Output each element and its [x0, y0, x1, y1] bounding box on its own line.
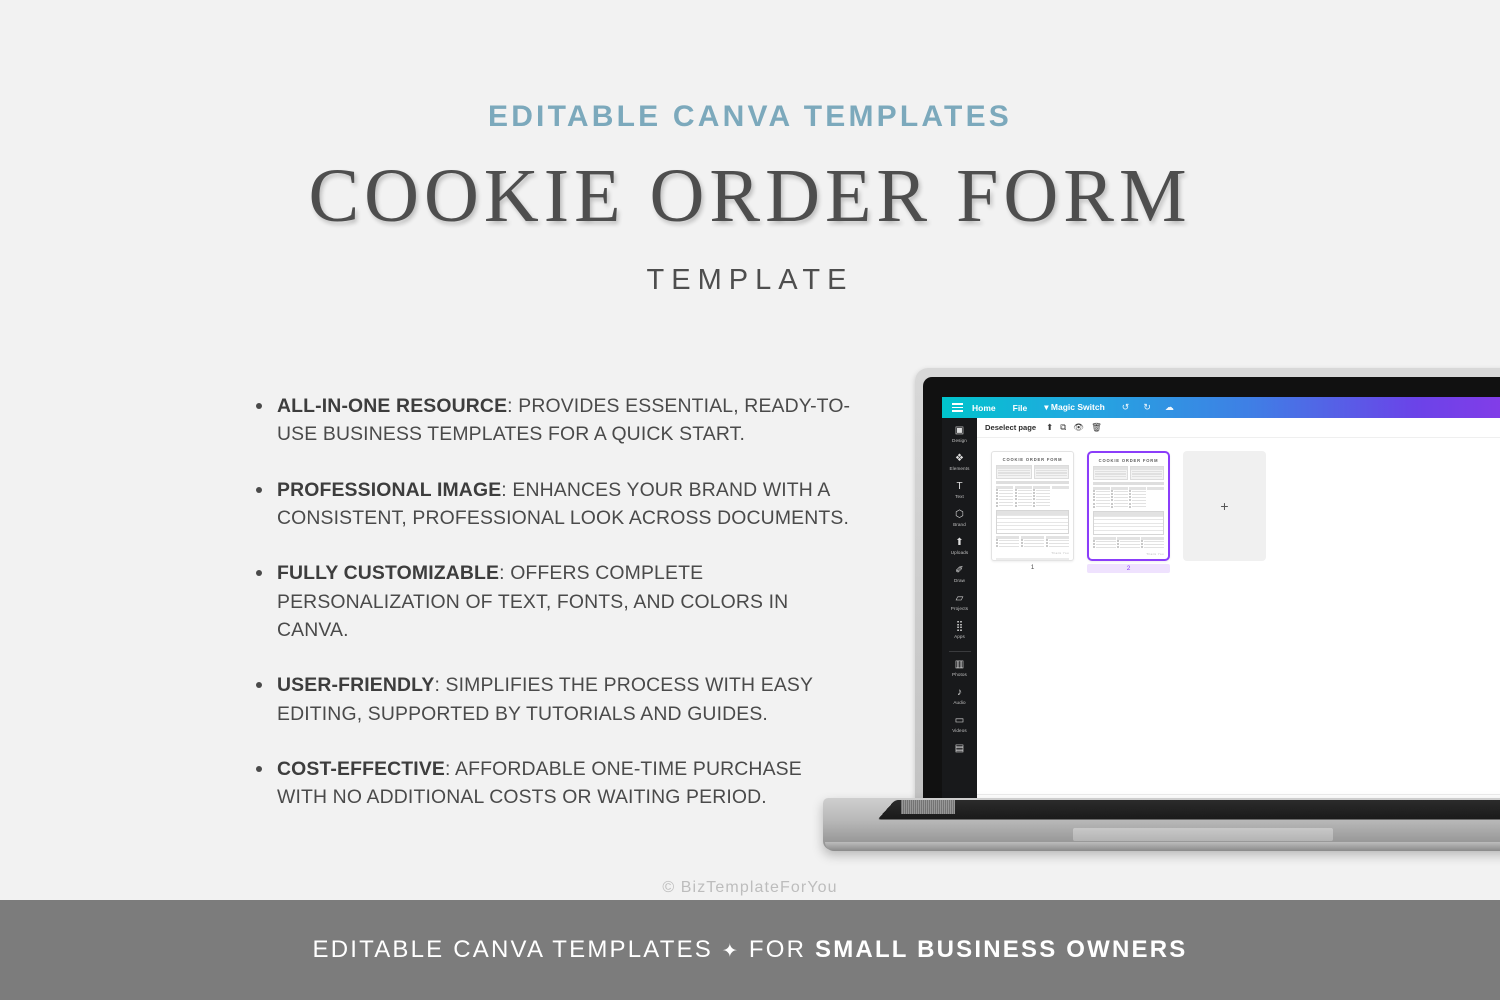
- add-page-card[interactable]: +: [1183, 451, 1266, 561]
- bullet-dot-icon: [256, 570, 262, 576]
- page-thumbnail-1[interactable]: COOKIE ORDER FORM: [991, 451, 1074, 571]
- footer-strong: SMALL BUSINESS OWNERS: [815, 936, 1187, 963]
- list-item: PROFESSIONAL IMAGE: ENHANCES YOUR BRAND …: [256, 476, 856, 533]
- sidebar-item-draw[interactable]: ✐ Draw: [942, 565, 977, 583]
- mini-info-box: [996, 465, 1032, 479]
- mini-signature: Thank You: [1093, 552, 1164, 556]
- sidebar-item-label: Brand: [942, 522, 977, 527]
- projects-icon: ▱: [942, 593, 977, 605]
- list-item: USER-FRIENDLY: SIMPLIFIES THE PROCESS WI…: [256, 671, 856, 728]
- draw-icon: ✐: [942, 565, 977, 577]
- sidebar-item-videos[interactable]: ▭ Videos: [942, 715, 977, 733]
- mini-bottom-band: [1093, 559, 1164, 561]
- list-item-text: ALL-IN-ONE RESOURCE: PROVIDES ESSENTIAL,…: [277, 392, 856, 449]
- sidebar-item-brand[interactable]: ⬡ Brand: [942, 509, 977, 527]
- bullet-dot-icon: [256, 766, 262, 772]
- page-toolbar: Deselect page ⬆ ⧉ 👁 🗑: [977, 418, 1500, 438]
- mini-form: COOKIE ORDER FORM: [992, 452, 1073, 561]
- list-item-lead: PROFESSIONAL IMAGE: [277, 479, 501, 501]
- sidebar-item-label: Elements: [942, 466, 977, 471]
- list-item-text: PROFESSIONAL IMAGE: ENHANCES YOUR BRAND …: [277, 476, 856, 533]
- sidebar-item-audio[interactable]: ♪ Audio: [942, 687, 977, 705]
- text-icon: T: [942, 481, 977, 493]
- mini-form: COOKIE ORDER FORM: [1089, 453, 1168, 561]
- mini-form-title: COOKIE ORDER FORM: [996, 457, 1069, 462]
- laptop-bezel: Home File ▾ Magic Switch ↺ ↻ ☁ ▣ D: [923, 377, 1500, 800]
- sidebar-item-text[interactable]: T Text: [942, 481, 977, 499]
- mini-info-box: [1093, 466, 1128, 480]
- sidebar-item-photos[interactable]: ▥ Photos: [942, 659, 977, 677]
- redo-icon[interactable]: ↻: [1143, 402, 1151, 413]
- sidebar-item-label: Projects: [942, 606, 977, 611]
- list-item: FULLY CUSTOMIZABLE: OFFERS COMPLETE PERS…: [256, 559, 856, 644]
- add-page-plus-icon[interactable]: +: [1183, 451, 1266, 561]
- list-item-lead: FULLY CUSTOMIZABLE: [277, 562, 499, 584]
- footer-bar: EDITABLE CANVA TEMPLATES ✦ FOR SMALL BUS…: [0, 900, 1500, 1000]
- sidebar-divider: [949, 651, 971, 652]
- feature-list: ALL-IN-ONE RESOURCE: PROVIDES ESSENTIAL,…: [256, 392, 856, 839]
- list-item-lead: ALL-IN-ONE RESOURCE: [277, 395, 507, 417]
- delete-page-icon[interactable]: 🗑: [1091, 422, 1102, 433]
- list-item-text: FULLY CUSTOMIZABLE: OFFERS COMPLETE PERS…: [277, 559, 856, 644]
- elements-icon: ❖: [942, 453, 977, 465]
- footer-lead: EDITABLE CANVA TEMPLATES: [313, 936, 713, 963]
- sidebar-item-label: Videos: [942, 728, 977, 733]
- canva-topbar: Home File ▾ Magic Switch ↺ ↻ ☁: [942, 397, 1500, 418]
- audio-icon: ♪: [942, 687, 977, 699]
- list-item-text: USER-FRIENDLY: SIMPLIFIES THE PROCESS WI…: [277, 671, 856, 728]
- bullet-dot-icon: [256, 487, 262, 493]
- design-icon: ▣: [942, 425, 977, 437]
- laptop-speaker-grille: [901, 800, 955, 814]
- list-item-text: COST-EFFECTIVE: AFFORDABLE ONE-TIME PURC…: [277, 755, 856, 812]
- more-icon: ▤: [942, 743, 977, 755]
- page-header: EDITABLE CANVA TEMPLATES COOKIE ORDER FO…: [0, 0, 1500, 297]
- canva-editor-screen: Home File ▾ Magic Switch ↺ ↻ ☁ ▣ D: [942, 397, 1500, 809]
- undo-icon[interactable]: ↺: [1122, 402, 1130, 413]
- diamond-icon: ✦: [722, 941, 740, 962]
- mini-footer-grid: [996, 536, 1069, 548]
- videos-icon: ▭: [942, 715, 977, 727]
- sidebar-item-design[interactable]: ▣ Design: [942, 425, 977, 443]
- canva-sidebar: ▣ Design ❖ Elements T Text ⬡: [942, 418, 977, 809]
- header-subtitle: TEMPLATE: [0, 264, 1500, 297]
- page-thumbnail-list: COOKIE ORDER FORM: [977, 438, 1500, 573]
- page-title: COOKIE ORDER FORM: [0, 158, 1500, 234]
- mini-signature: Thank You: [996, 551, 1069, 555]
- deselect-page-button[interactable]: Deselect page: [985, 423, 1036, 432]
- sidebar-item-elements[interactable]: ❖ Elements: [942, 453, 977, 471]
- page-number-label: 1: [991, 564, 1074, 571]
- mini-form-title: COOKIE ORDER FORM: [1093, 458, 1164, 463]
- footer-mid: FOR: [749, 936, 806, 963]
- mini-info-row: [996, 465, 1069, 479]
- sidebar-item-label: Photos: [942, 672, 977, 677]
- mini-info-box: [1034, 465, 1070, 479]
- footer-text: EDITABLE CANVA TEMPLATES ✦ FOR SMALL BUS…: [313, 936, 1188, 964]
- cloud-icon[interactable]: ☁: [1165, 402, 1174, 413]
- page-thumbnail-2[interactable]: COOKIE ORDER FORM: [1087, 451, 1170, 573]
- sidebar-item-uploads[interactable]: ⬆ Uploads: [942, 537, 977, 555]
- laptop-front-lip: [825, 842, 1500, 851]
- mini-bottom-band: [996, 558, 1069, 561]
- topbar-item-home[interactable]: Home: [972, 403, 996, 413]
- bullet-dot-icon: [256, 682, 262, 688]
- sidebar-item-label: Apps: [942, 634, 977, 639]
- laptop-trackpad: [1073, 828, 1333, 841]
- sidebar-item-label: Design: [942, 438, 977, 443]
- sidebar-item-more[interactable]: ▤: [942, 743, 977, 755]
- mini-info-box: [1130, 466, 1165, 480]
- topbar-item-magic-switch[interactable]: ▾ Magic Switch: [1044, 402, 1104, 413]
- sidebar-item-apps[interactable]: ⣿ Apps: [942, 621, 977, 639]
- page-number-label: 2: [1087, 564, 1170, 573]
- sidebar-item-projects[interactable]: ▱ Projects: [942, 593, 977, 611]
- sidebar-item-label: Text: [942, 494, 977, 499]
- mini-order-table: [1093, 511, 1164, 534]
- topbar-item-file[interactable]: File: [1013, 403, 1028, 413]
- list-item-lead: USER-FRIENDLY: [277, 674, 434, 696]
- list-item-lead: COST-EFFECTIVE: [277, 758, 445, 780]
- page-thumbnail-image[interactable]: COOKIE ORDER FORM: [1087, 451, 1170, 561]
- mini-flavor-grid: [1093, 487, 1164, 509]
- mini-info-row: [1093, 466, 1164, 480]
- sidebar-item-label: Uploads: [942, 550, 977, 555]
- laptop-mockup: Home File ▾ Magic Switch ↺ ↻ ☁ ▣ D: [823, 368, 1500, 868]
- header-eyebrow: EDITABLE CANVA TEMPLATES: [0, 100, 1500, 134]
- sidebar-item-label: Draw: [942, 578, 977, 583]
- list-item: ALL-IN-ONE RESOURCE: PROVIDES ESSENTIAL,…: [256, 392, 856, 449]
- brand-icon: ⬡: [942, 509, 977, 521]
- uploads-icon: ⬆: [942, 537, 977, 549]
- photos-icon: ▥: [942, 659, 977, 671]
- page-thumbnail-image[interactable]: COOKIE ORDER FORM: [991, 451, 1074, 561]
- laptop-lid: Home File ▾ Magic Switch ↺ ↻ ☁ ▣ D: [915, 368, 1500, 800]
- sidebar-item-label: Audio: [942, 700, 977, 705]
- mini-footer-grid: [1093, 537, 1164, 549]
- duplicate-page-icon[interactable]: ⧉: [1060, 422, 1066, 433]
- mini-section-band: [1093, 482, 1164, 485]
- mini-flavor-grid: [996, 486, 1069, 508]
- list-item: COST-EFFECTIVE: AFFORDABLE ONE-TIME PURC…: [256, 755, 856, 812]
- mini-order-table: [996, 510, 1069, 533]
- chevron-down-icon: ▾: [1044, 402, 1051, 412]
- hamburger-icon[interactable]: [942, 403, 972, 411]
- canva-canvas-area: Deselect page ⬆ ⧉ 👁 🗑 COOKIE ORDER FORM: [977, 418, 1500, 809]
- canva-body: ▣ Design ❖ Elements T Text ⬡: [942, 418, 1500, 809]
- apps-icon: ⣿: [942, 621, 977, 633]
- bullet-dot-icon: [256, 403, 262, 409]
- hide-page-icon[interactable]: 👁: [1073, 422, 1084, 433]
- watermark: © BizTemplateForYou: [0, 879, 1500, 897]
- add-page-icon[interactable]: ⬆: [1046, 422, 1053, 433]
- mini-section-band: [996, 481, 1069, 484]
